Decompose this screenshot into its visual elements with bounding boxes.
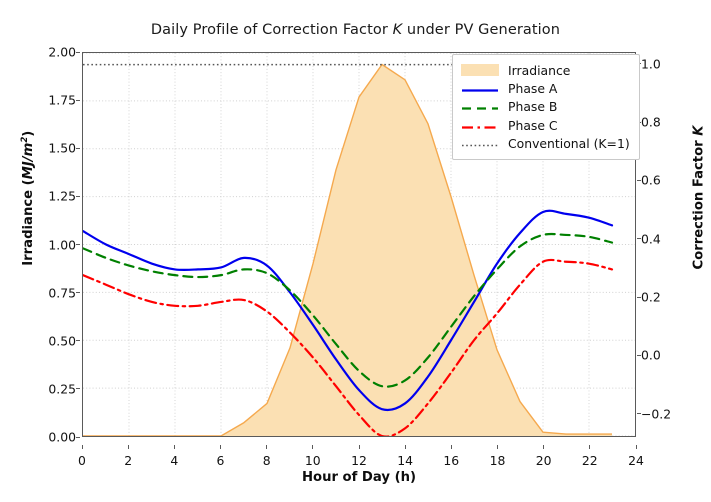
legend-swatch-icon [461,119,499,132]
y2-axis-tick-mark [637,297,641,298]
x-axis-tick-mark [451,445,452,449]
x-axis-tick-mark [128,445,129,449]
y-axis-tick-mark [76,100,80,101]
chart-title-tail: under PV Generation [402,22,560,38]
x-axis-tick-label: 22 [570,453,610,468]
y-axis-title-text: Irradiance ( [21,179,36,265]
chart-figure: Daily Profile of Correction Factor K und… [0,0,711,502]
y2-axis-tick-label: 0.4 [641,231,687,246]
y-axis-tick-mark [76,388,80,389]
y-axis-tick-label: 0.25 [30,381,76,396]
y2-axis-tick-label: 0.2 [641,290,687,305]
x-axis-tick-mark [82,445,83,449]
x-axis-tick-labels: 024681012141618202224 [82,446,636,466]
y-axis-tick-mark [76,437,80,438]
y2-axis-tick-label: 0.0 [641,348,687,363]
y2-axis-title-symbol: K [692,126,707,136]
legend-line-icon [461,121,499,134]
y2-axis-tick-mark [637,180,641,181]
y2-axis-tick-labels: −0.20.00.20.40.60.81.0 [641,52,691,437]
x-axis-tick-label: 20 [524,453,564,468]
y-axis-tick-mark [76,148,80,149]
y2-axis-title: Correction Factor K [692,18,707,378]
y2-axis-tick-label: 0.8 [641,115,687,130]
legend-label: Phase C [508,118,558,133]
x-axis-tick-mark [220,445,221,449]
x-axis-tick-label: 8 [247,453,287,468]
y-axis-tick-label: 0.75 [30,285,76,300]
legend-label: Conventional (K=1) [508,136,630,151]
x-axis-tick-label: 24 [616,453,656,468]
legend-line-icon [461,84,499,97]
y2-axis-title-text: Correction Factor [692,136,707,270]
x-axis-tick-label: 6 [201,453,241,468]
y-axis-title-tail: ) [21,131,36,137]
x-axis-tick-label: 14 [385,453,425,468]
y2-axis-tick-mark [637,238,641,239]
x-axis-title: Hour of Day (h) [82,470,636,485]
y-axis-tick-label: 1.75 [30,93,76,108]
x-axis-tick-mark [359,445,360,449]
y-axis-tick-label: 0.50 [30,333,76,348]
y2-axis-tick-label: −0.2 [641,406,687,421]
x-axis-tick-label: 4 [154,453,194,468]
legend-swatch-icon [461,100,499,113]
y-axis-title-unit: MJ/m [21,143,36,180]
y2-axis-tick-label: 0.6 [641,173,687,188]
legend-swatch-icon [461,64,499,76]
x-axis-tick-label: 12 [339,453,379,468]
legend-item-phase-a[interactable]: Phase A [461,79,630,97]
legend-line-icon [461,102,499,115]
x-axis-tick-label: 2 [108,453,148,468]
y-axis-tick-label: 1.25 [30,189,76,204]
y-axis-tick-mark [76,244,80,245]
y-axis-tick-mark [76,196,80,197]
legend-item-phase-b[interactable]: Phase B [461,98,630,116]
y-axis-tick-mark [76,340,80,341]
legend-item-conventional-k-1[interactable]: Conventional (K=1) [461,135,630,153]
x-axis-tick-label: 0 [62,453,102,468]
y-axis-tick-label: 0.00 [30,430,76,445]
y-axis-tick-label: 1.00 [30,237,76,252]
x-axis-tick-mark [174,445,175,449]
chart-title: Daily Profile of Correction Factor K und… [0,22,711,38]
y2-axis-tick-mark [637,413,641,414]
x-axis-tick-mark [266,445,267,449]
x-axis-tick-mark [636,445,637,449]
x-axis-tick-mark [405,445,406,449]
y-axis-tick-label: 1.50 [30,141,76,156]
legend-label: Phase B [508,99,557,114]
legend-swatch-icon [461,82,499,95]
y-axis-tick-mark [76,52,80,53]
y-axis-tick-mark [76,292,80,293]
x-axis-tick-mark [543,445,544,449]
x-axis-tick-mark [312,445,313,449]
legend-swatch-icon [461,137,499,150]
y-axis-title: Irradiance (MJ/m2) [20,18,36,378]
y-axis-tick-label: 2.00 [30,45,76,60]
chart-legend: IrradiancePhase APhase BPhase CConventio… [452,54,640,160]
chart-title-symbol: K [393,22,403,38]
y-axis-title-exponent: 2 [20,137,30,143]
x-axis-tick-label: 16 [431,453,471,468]
legend-item-phase-c[interactable]: Phase C [461,116,630,134]
y2-axis-tick-mark [637,355,641,356]
legend-label: Phase A [508,81,557,96]
legend-line-icon [461,139,499,152]
x-axis-tick-label: 10 [293,453,333,468]
legend-item-irradiance[interactable]: Irradiance [461,61,630,79]
y2-axis-tick-label: 1.0 [641,56,687,71]
x-axis-tick-label: 18 [478,453,518,468]
chart-title-text: Daily Profile of Correction Factor [151,22,393,38]
x-axis-tick-mark [589,445,590,449]
legend-label: Irradiance [508,63,570,78]
x-axis-tick-mark [497,445,498,449]
